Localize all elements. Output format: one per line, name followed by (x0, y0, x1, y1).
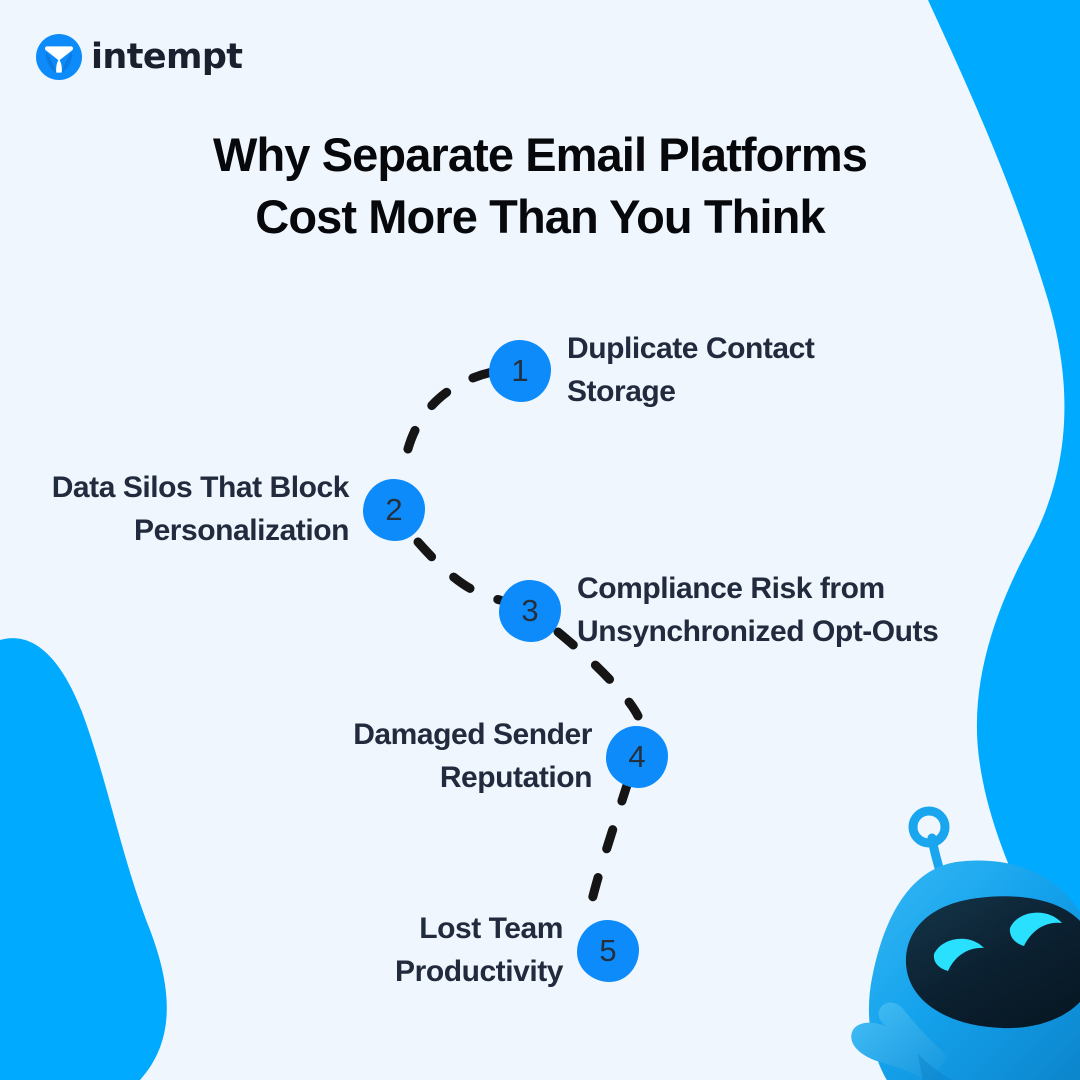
dash-4-to-5 (588, 782, 628, 918)
step-number-3: 3 (521, 595, 538, 626)
brand-name: intempt (91, 40, 242, 75)
step-label-4: Damaged Sender Reputation (353, 714, 592, 799)
waving-robot-mascot-icon (806, 806, 1080, 1080)
page-title-line-2: Cost More Than You Think (90, 186, 990, 248)
step-badge-3: 3 (499, 580, 561, 642)
step-number-5: 5 (599, 935, 616, 966)
step-badge-1: 1 (489, 340, 551, 402)
page-title: Why Separate Email Platforms Cost More T… (90, 124, 990, 248)
dash-2-to-3 (418, 542, 500, 600)
step-node-4[interactable]: Damaged Sender Reputation 4 (353, 714, 668, 799)
step-node-5[interactable]: Lost Team Productivity 5 (395, 908, 639, 993)
step-node-1[interactable]: 1 Duplicate Contact Storage (489, 328, 814, 413)
step-label-5: Lost Team Productivity (395, 908, 563, 993)
step-node-2[interactable]: Data Silos That Block Personalization 2 (52, 467, 425, 552)
step-badge-4: 4 (606, 726, 668, 788)
robot-svg (806, 806, 1080, 1080)
step-number-1: 1 (511, 355, 528, 386)
brand-logo[interactable]: intempt (36, 34, 242, 80)
intempt-whale-tail-logo-icon (36, 34, 82, 80)
step-badge-5: 5 (577, 920, 639, 982)
step-label-3: Compliance Risk from Unsynchronized Opt-… (577, 568, 938, 653)
infographic-canvas: intempt Why Separate Email Platforms Cos… (0, 0, 1080, 1080)
page-title-line-1: Why Separate Email Platforms (90, 124, 990, 186)
step-number-2: 2 (385, 494, 402, 525)
dash-1-to-2 (404, 372, 492, 468)
step-node-3[interactable]: 3 Compliance Risk from Unsynchronized Op… (499, 568, 938, 653)
step-label-1: Duplicate Contact Storage (567, 328, 814, 413)
step-number-4: 4 (628, 741, 645, 772)
step-label-2: Data Silos That Block Personalization (52, 467, 349, 552)
step-badge-2: 2 (363, 479, 425, 541)
